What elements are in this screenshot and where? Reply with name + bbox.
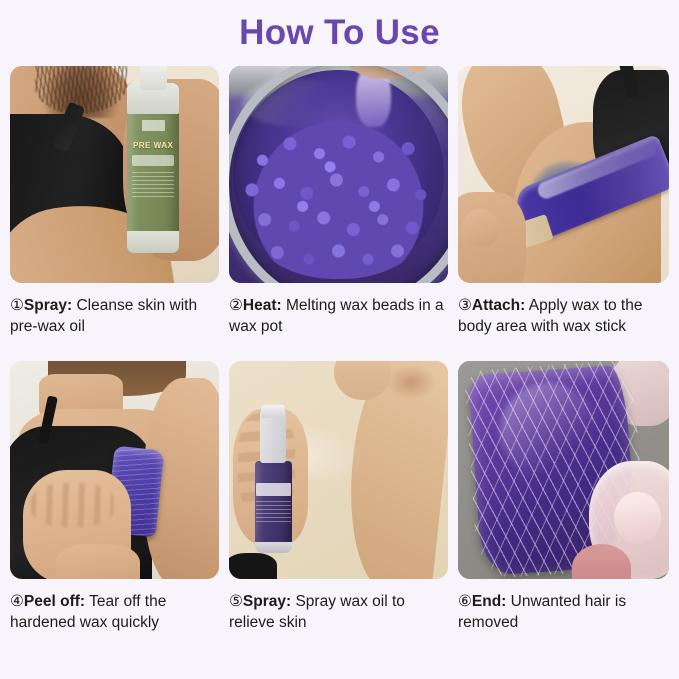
step-5-image — [229, 361, 448, 579]
step-6-number: ⑥ — [458, 593, 472, 610]
step-card-3: ③Attach: Apply wax to the body area with… — [458, 66, 669, 361]
brand-logo-mark — [142, 120, 165, 131]
step-card-6: ⑥End: Unwanted hair is removed — [458, 361, 669, 657]
step-4-number: ④ — [10, 593, 24, 610]
step-1-number: ① — [10, 297, 24, 314]
page-title: How To Use — [0, 0, 679, 58]
bottle-label-text-lines — [256, 501, 291, 523]
step-card-5: ⑤Spray: Spray wax oil to relieve skin — [229, 361, 448, 657]
step-6-caption: ⑥End: Unwanted hair is removed — [458, 579, 669, 657]
bottle-label-band — [132, 155, 174, 166]
bottle-sprayer-cap — [140, 66, 167, 90]
step-2-caption: ②Heat: Melting wax beads in a wax pot — [229, 283, 448, 361]
bottle-sprayer-cap — [261, 405, 285, 418]
step-1-image: PRE WAX — [10, 66, 219, 283]
step-4-image — [10, 361, 219, 579]
bottle-label-band — [256, 483, 291, 496]
step-6-image — [458, 361, 669, 579]
step-6-keyword: End: — [472, 593, 506, 610]
step-2-keyword: Heat: — [243, 297, 282, 314]
step-1-keyword: Spray: — [24, 297, 72, 314]
bottle-label-text-lines — [132, 172, 174, 198]
clothing-corner — [229, 553, 277, 579]
step-3-number: ③ — [458, 297, 472, 314]
step-card-1: PRE WAX ①Spray: Cleanse skin with pre-wa… — [10, 66, 219, 361]
step-4-caption: ④Peel off: Tear off the hardened wax qui… — [10, 579, 219, 657]
step-3-image — [458, 66, 669, 283]
step-card-4: ④Peel off: Tear off the hardened wax qui… — [10, 361, 219, 657]
gloved-thumb — [614, 492, 660, 544]
pot-metal-rim — [229, 66, 448, 283]
step-5-keyword: Spray: — [243, 593, 291, 610]
bottle-label-title: PRE WAX — [132, 138, 174, 153]
bottle-neck — [260, 411, 286, 463]
wrist-shape — [56, 544, 140, 579]
step-1-caption: ①Spray: Cleanse skin with pre-wax oil — [10, 283, 219, 361]
underarm-area — [387, 365, 435, 400]
steps-grid: PRE WAX ①Spray: Cleanse skin with pre-wa… — [10, 66, 669, 657]
step-5-caption: ⑤Spray: Spray wax oil to relieve skin — [229, 579, 448, 657]
step-2-number: ② — [229, 297, 243, 314]
bottle-base — [127, 231, 179, 253]
step-4-keyword: Peel off: — [24, 593, 85, 610]
bottle-base — [255, 542, 292, 553]
step-2-image — [229, 66, 448, 283]
step-5-number: ⑤ — [229, 593, 243, 610]
step-3-caption: ③Attach: Apply wax to the body area with… — [458, 283, 669, 361]
step-card-2: ②Heat: Melting wax beads in a wax pot — [229, 66, 448, 361]
knuckles-shading — [31, 483, 115, 527]
how-to-use-infographic: How To Use PRE WAX — [0, 0, 679, 679]
step-3-keyword: Attach: — [472, 297, 525, 314]
